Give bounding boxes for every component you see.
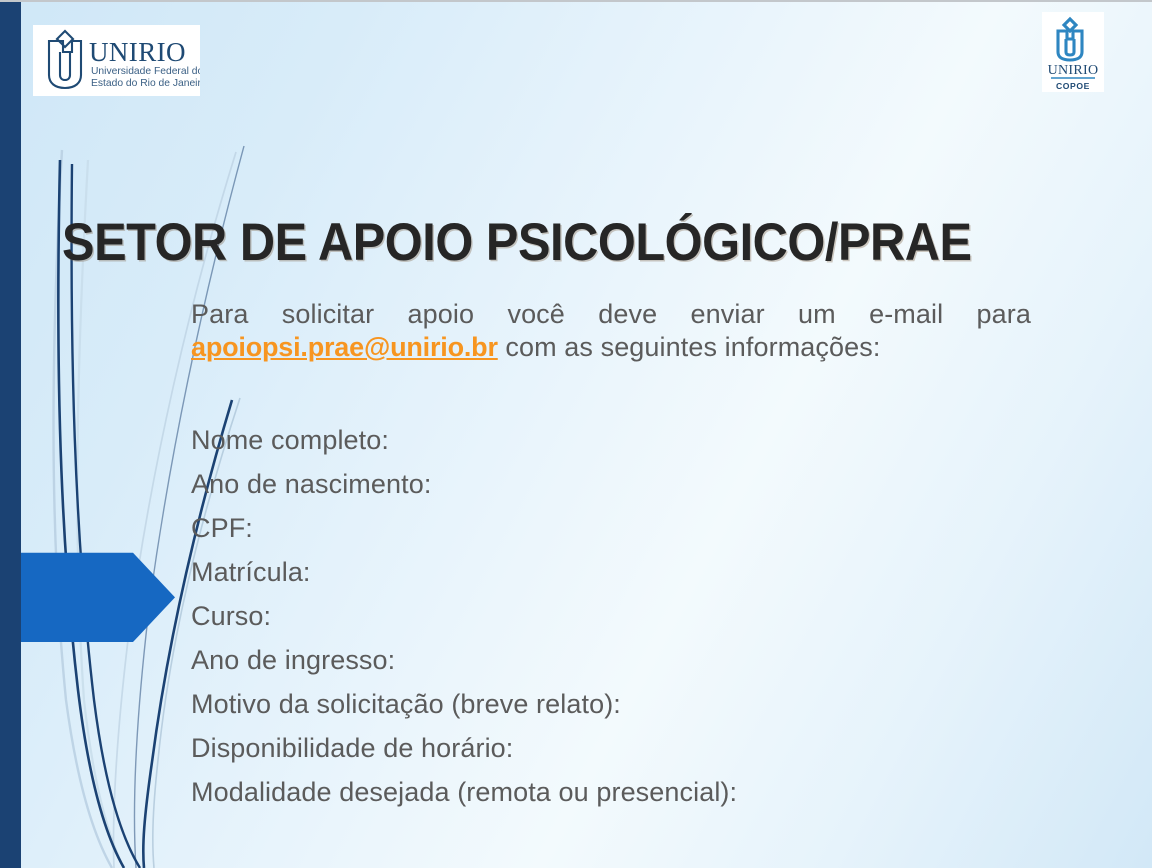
- slide-body: Para solicitar apoio você deve enviar um…: [191, 298, 1031, 364]
- list-item: Motivo da solicitação (breve relato):: [191, 682, 1031, 726]
- list-item: Modalidade desejada (remota ou presencia…: [191, 770, 1031, 814]
- unirio-copoe-logo: UNIRIO COPOE: [1042, 12, 1104, 92]
- unirio-logo: UNIRIO Universidade Federal do Estado do…: [33, 25, 200, 96]
- unirio-wordmark: UNIRIO: [89, 37, 186, 67]
- unirio-logo-graphic: UNIRIO Universidade Federal do Estado do…: [33, 25, 200, 96]
- copoe-unit-label: COPOE: [1056, 81, 1090, 91]
- unirio-subtitle-line1: Universidade Federal do: [91, 66, 200, 77]
- intro-paragraph: Para solicitar apoio você deve enviar um…: [191, 298, 1031, 364]
- copoe-unirio-wordmark: UNIRIO: [1048, 63, 1099, 78]
- list-item: CPF:: [191, 506, 1031, 550]
- page-title: SETOR DE APOIO PSICOLÓGICO/PRAE: [62, 212, 1019, 274]
- list-item: Ano de ingresso:: [191, 638, 1031, 682]
- list-item: Disponibilidade de horário:: [191, 726, 1031, 770]
- presentation-slide: UNIRIO Universidade Federal do Estado do…: [0, 0, 1152, 868]
- copoe-logo-graphic: UNIRIO COPOE: [1042, 12, 1104, 92]
- intro-text-after-email: com as seguintes informações:: [498, 332, 881, 362]
- list-item: Nome completo:: [191, 418, 1031, 462]
- email-link[interactable]: apoiopsi.prae@unirio.br: [191, 332, 498, 362]
- list-item: Ano de nascimento:: [191, 462, 1031, 506]
- blue-arrow-shape: [0, 548, 175, 643]
- list-item: Matrícula:: [191, 550, 1031, 594]
- top-border-line: [0, 0, 1152, 2]
- list-item: Curso:: [191, 594, 1031, 638]
- intro-text-before-email: Para solicitar apoio você deve enviar um…: [191, 299, 1031, 329]
- left-accent-band: [0, 0, 21, 868]
- unirio-subtitle-line2: Estado do Rio de Janeiro: [91, 78, 200, 89]
- requested-information-list: Nome completo: Ano de nascimento: CPF: M…: [191, 418, 1031, 814]
